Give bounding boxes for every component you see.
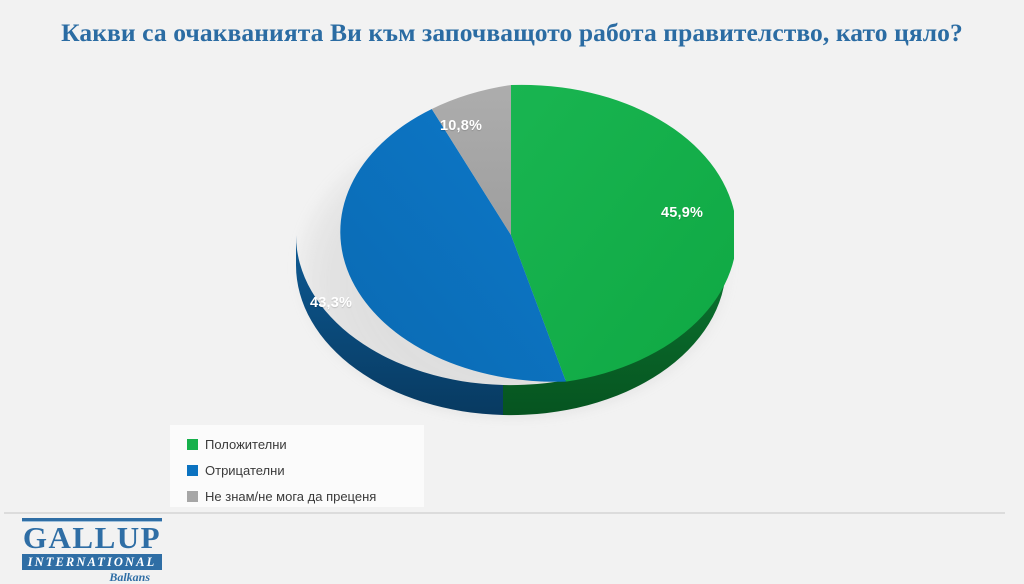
legend-label-dontknow: Не знам/не мога да преценя <box>205 490 376 503</box>
legend-label-positive: Положителни <box>205 438 287 451</box>
pie-label-dontknow: 10,8% <box>440 118 482 134</box>
page-title: Какви са очакванията Ви към започващото … <box>0 18 1024 48</box>
logo-subtitle: INTERNATIONAL <box>22 554 162 570</box>
chart-legend: Положителни Отрицателни Не знам/не мога … <box>170 425 424 507</box>
legend-swatch-dontknow-icon <box>187 491 198 502</box>
logo-region: Balkans <box>22 571 162 583</box>
pie-chart: 45,9% 43,3% 10,8% <box>288 80 734 430</box>
pie-top-faces <box>340 85 734 382</box>
footer-divider <box>4 512 1005 514</box>
legend-swatch-negative-icon <box>187 465 198 476</box>
chart-plot-area: 45,9% 43,3% 10,8% <box>0 55 1024 455</box>
legend-item-dontknow[interactable]: Не знам/не мога да преценя <box>170 483 424 509</box>
pie-label-negative: 43,3% <box>310 295 352 311</box>
pie-label-positive: 45,9% <box>661 205 703 221</box>
gallup-international-balkans-logo: GALLUP INTERNATIONAL Balkans <box>10 518 170 574</box>
legend-item-negative[interactable]: Отрицателни <box>170 457 424 483</box>
pie-chart-svg <box>288 80 734 430</box>
legend-item-positive[interactable]: Положителни <box>170 431 424 457</box>
logo-wordmark: GALLUP <box>14 522 170 553</box>
legend-label-negative: Отрицателни <box>205 464 285 477</box>
legend-swatch-positive-icon <box>187 439 198 450</box>
